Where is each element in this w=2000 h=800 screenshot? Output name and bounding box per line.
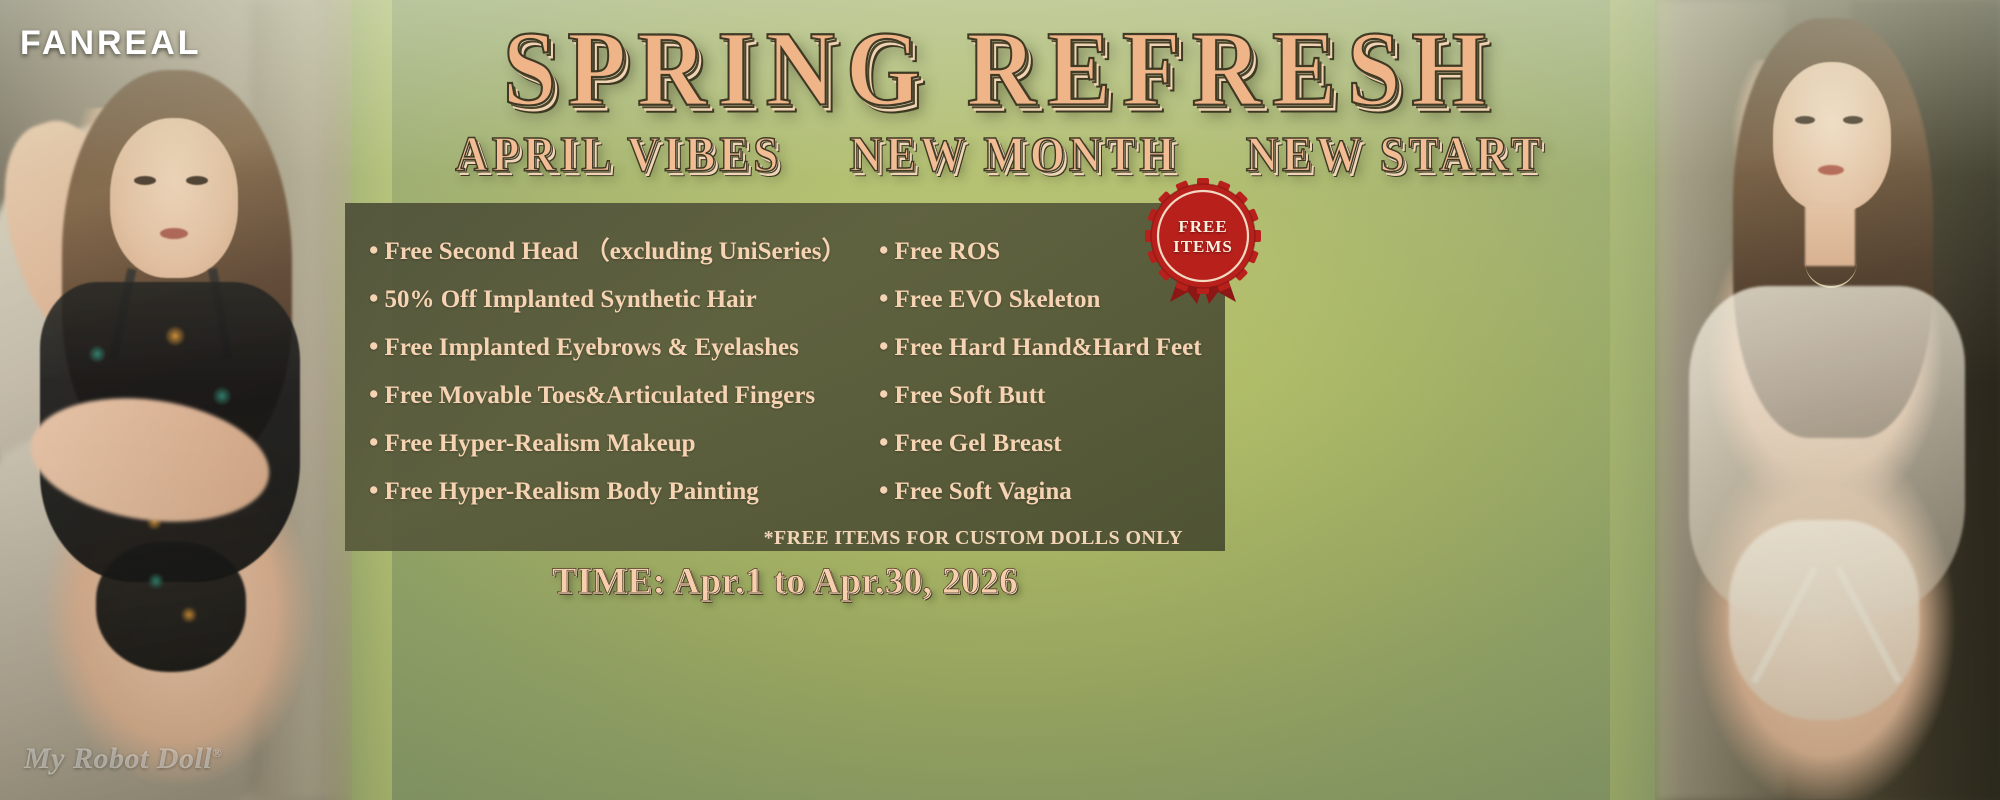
list-item: • 50% Off Implanted Synthetic Hair [369,285,879,312]
list-item: • Free Gel Breast [879,429,1203,456]
bullet-icon: • [369,381,378,408]
list-item: • Free Movable Toes&Articulated Fingers [369,381,879,408]
free-items-badge: FREE ITEMS [1140,178,1266,304]
list-item-label: 50% Off Implanted Synthetic Hair [384,287,756,312]
list-item-label: Free EVO Skeleton [894,287,1100,312]
bullet-icon: • [369,237,378,264]
list-item: • Free Soft Butt [879,381,1203,408]
list-item: • Free Implanted Eyebrows & Eyelashes [369,333,879,360]
list-item-label: Free Gel Breast [894,431,1061,456]
list-item-label: Free Soft Butt [894,383,1045,408]
list-item-label: Free ROS [894,239,1000,264]
badge-line-2: ITEMS [1173,237,1233,257]
list-item: • Free Second Head （excluding UniSeries） [369,237,879,264]
bullet-icon: • [879,285,888,312]
list-item: • Free Hard Hand&Hard Feet [879,333,1203,360]
subheadline-part-3: NEW START [1246,127,1545,182]
fanreal-logo: FANREAL [20,24,202,63]
list-item: • Free Hyper-Realism Body Painting [369,477,879,504]
offers-left-column: • Free Second Head （excluding UniSeries）… [369,237,879,525]
subheadline: APRIL VIBES NEW MONTH NEW START [455,125,1545,182]
page-title: SPRING REFRESH [503,14,1497,124]
my-robot-doll-watermark: My Robot Doll® [24,742,222,776]
bullet-icon: • [369,333,378,360]
bullet-icon: • [879,477,888,504]
list-item-label: Free Second Head （excluding UniSeries） [384,239,846,264]
list-item-label: Free Implanted Eyebrows & Eyelashes [384,335,798,360]
subheadline-part-2: NEW MONTH [849,127,1178,182]
bullet-icon: • [879,381,888,408]
subheadline-container: APRIL VIBES NEW MONTH NEW START [0,128,2000,180]
list-item-label: Free Movable Toes&Articulated Fingers [384,383,815,408]
bullet-icon: • [369,477,378,504]
subheadline-part-1: APRIL VIBES [455,127,782,182]
watermark-label: My Robot Doll [24,742,212,775]
bullet-icon: • [369,429,378,456]
offers-disclaimer: *FREE ITEMS FOR CUSTOM DOLLS ONLY [369,527,1203,550]
list-item-label: Free Hyper-Realism Makeup [384,431,695,456]
list-item: • Free Soft Vagina [879,477,1203,504]
offers-panel: • Free Second Head （excluding UniSeries）… [345,203,1225,551]
promo-period-text: TIME: Apr.1 to Apr.30, 2026 [345,560,1225,603]
badge-line-1: FREE [1178,217,1227,237]
bullet-icon: • [879,237,888,264]
badge-text-group: FREE ITEMS [1140,174,1266,300]
headline-container: SPRING REFRESH [0,14,2000,112]
list-item-label: Free Soft Vagina [894,479,1071,504]
bullet-icon: • [369,285,378,312]
list-item-label: Free Hyper-Realism Body Painting [384,479,758,504]
promotional-banner: FANREAL SPRING REFRESH APRIL VIBES NEW M… [0,0,2000,800]
list-item-label: Free Hard Hand&Hard Feet [894,335,1201,360]
bullet-icon: • [879,429,888,456]
bullet-icon: • [879,333,888,360]
watermark-registered-mark: ® [212,745,222,760]
list-item: • Free Hyper-Realism Makeup [369,429,879,456]
